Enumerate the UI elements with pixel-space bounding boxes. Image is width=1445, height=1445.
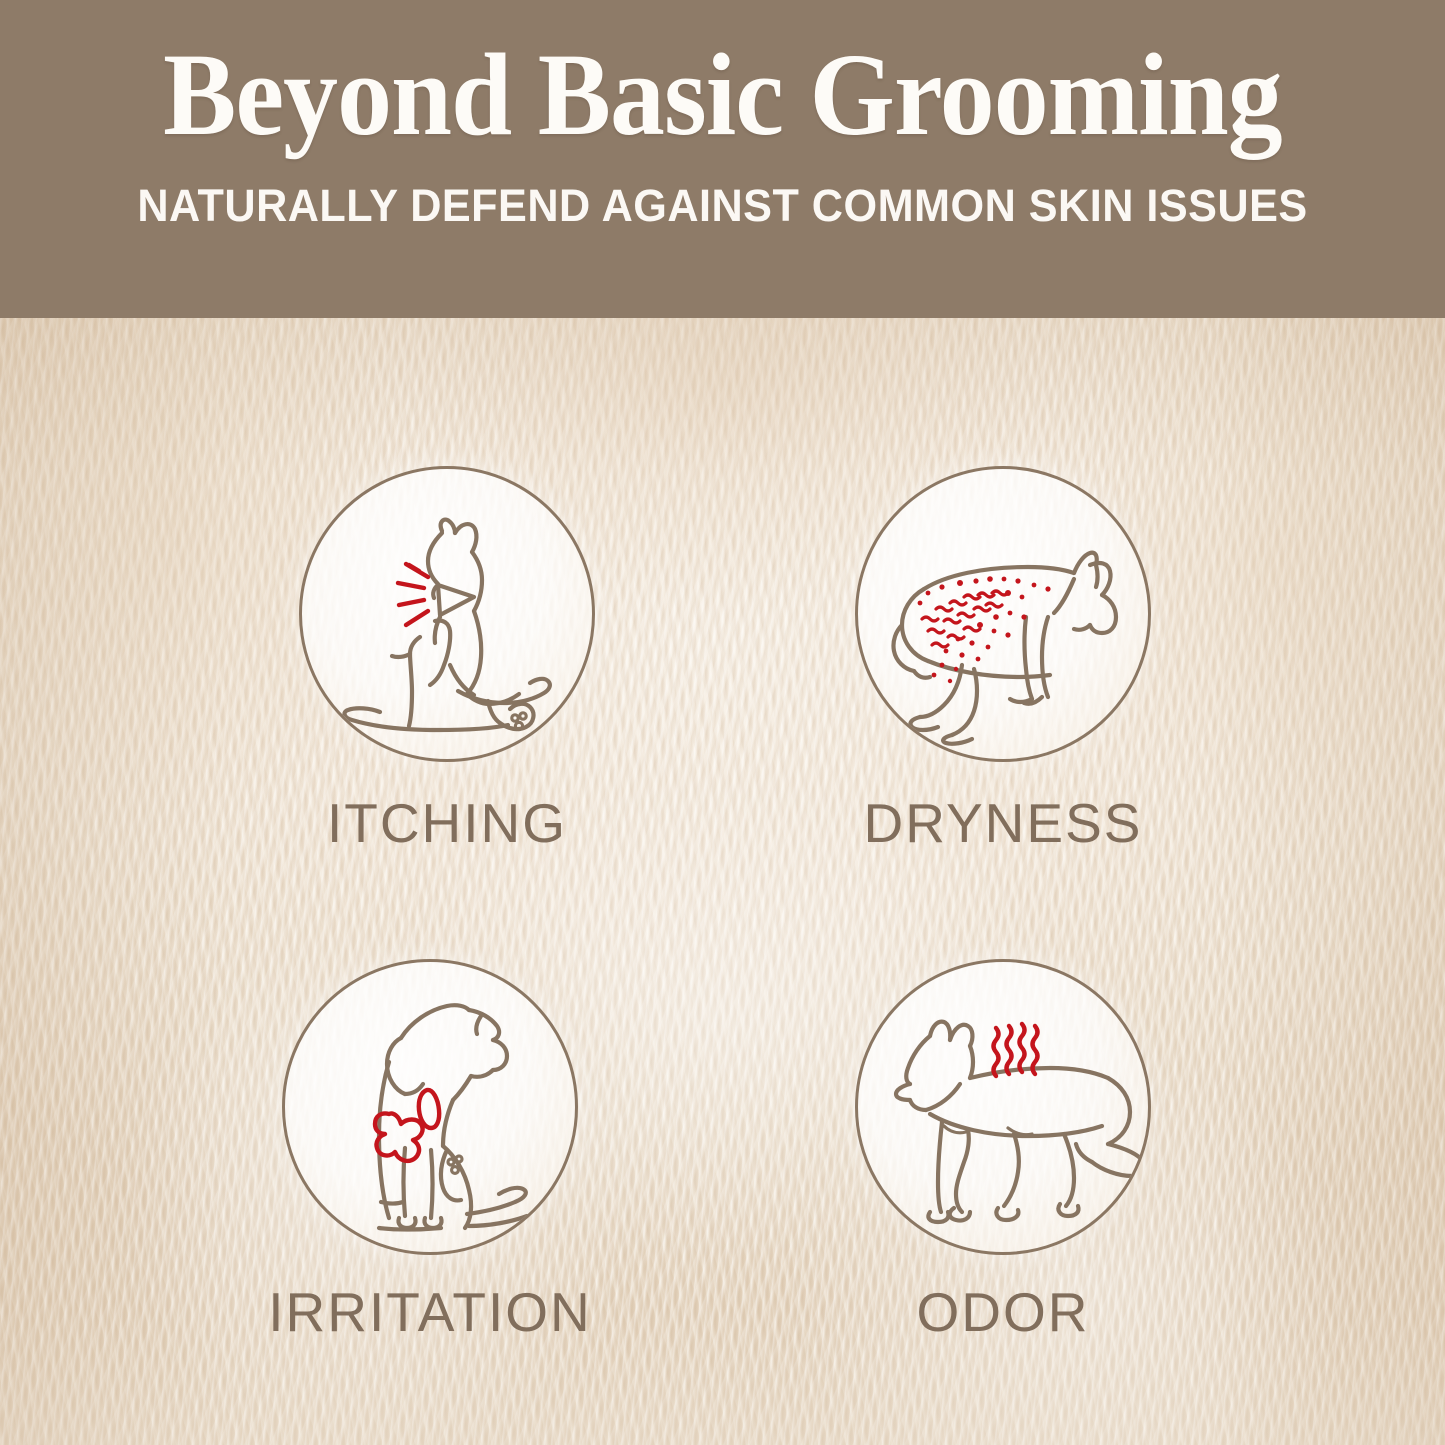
- icon-circle-odor: [855, 959, 1151, 1255]
- issue-label-itching: ITCHING: [282, 796, 612, 851]
- page-subtitle: NATURALLY DEFEND AGAINST COMMON SKIN ISS…: [137, 180, 1307, 232]
- header-band: Beyond Basic Grooming NATURALLY DEFEND A…: [0, 0, 1445, 318]
- issue-label-irritation: IRRITATION: [265, 1285, 595, 1340]
- dog-walking-odor-icon: [858, 962, 1151, 1255]
- issue-card-odor[interactable]: ODOR: [838, 959, 1168, 1340]
- dog-scratching-icon: [302, 469, 595, 762]
- issue-label-dryness: DRYNESS: [838, 796, 1168, 851]
- issues-grid: ITCHING: [0, 318, 1445, 1445]
- issue-card-itching[interactable]: ITCHING: [282, 466, 612, 851]
- icon-circle-itching: [299, 466, 595, 762]
- page-title: Beyond Basic Grooming: [163, 36, 1282, 154]
- issue-card-dryness[interactable]: DRYNESS: [838, 466, 1168, 851]
- dog-flaky-skin-icon: [858, 469, 1151, 762]
- dog-sitting-irritated-icon: [285, 962, 578, 1255]
- poster-root: Beyond Basic Grooming NATURALLY DEFEND A…: [0, 0, 1445, 1445]
- issue-label-odor: ODOR: [838, 1285, 1168, 1340]
- issue-card-irritation[interactable]: IRRITATION: [265, 959, 595, 1340]
- icon-circle-irritation: [282, 959, 578, 1255]
- icon-circle-dryness: [855, 466, 1151, 762]
